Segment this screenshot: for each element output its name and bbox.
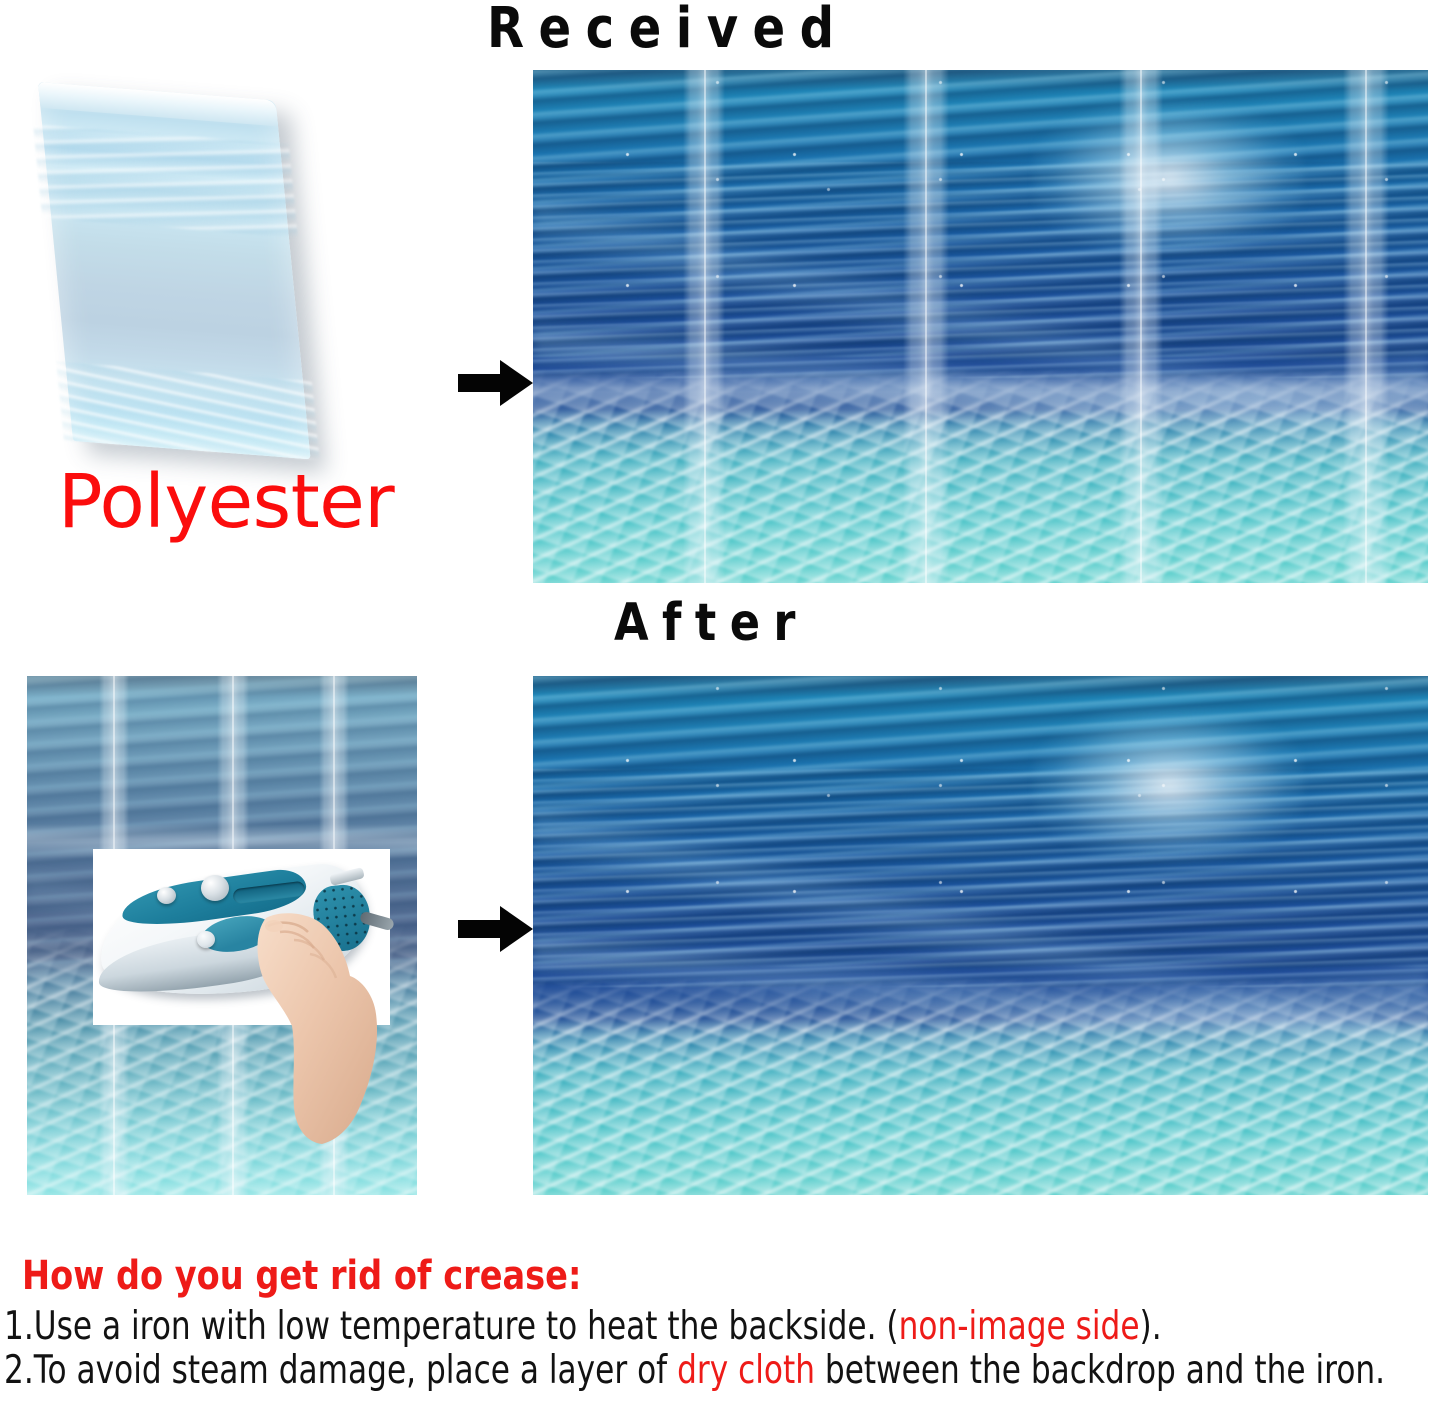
polyester-label: Polyester xyxy=(58,462,394,542)
page-title-received: Received xyxy=(487,0,849,60)
instruction-line-2-before: 2.To avoid steam damage, place a layer o… xyxy=(4,1348,677,1393)
received-backdrop-image xyxy=(533,70,1428,583)
instruction-line-2: 2.To avoid steam damage, place a layer o… xyxy=(4,1349,1385,1393)
water-bubbles xyxy=(533,80,1428,326)
instruction-line-2-after: between the backdrop and the iron. xyxy=(815,1348,1385,1393)
hand-illustration xyxy=(250,910,400,1145)
fabric-ripple-bottom xyxy=(56,361,320,460)
iron-temperature-dial xyxy=(197,931,215,948)
arrow-right-icon xyxy=(458,903,534,955)
arrow-right-icon xyxy=(458,357,534,409)
after-backdrop-image xyxy=(533,676,1428,1195)
page-title-after: After xyxy=(614,594,809,652)
water-bubbles xyxy=(533,686,1428,935)
instruction-line-2-highlight: dry cloth xyxy=(677,1348,815,1393)
instruction-line-1-highlight: non-image side xyxy=(899,1304,1140,1349)
instruction-line-1: 1.Use a iron with low temperature to hea… xyxy=(4,1305,1162,1349)
seabed-caustics xyxy=(533,368,1428,583)
fabric-curl-edge xyxy=(38,82,278,126)
instruction-line-1-after: ). xyxy=(1140,1304,1162,1349)
instructions-heading: How do you get rid of crease: xyxy=(22,1253,581,1299)
instruction-line-1-before: 1.Use a iron with low temperature to hea… xyxy=(4,1304,899,1349)
fabric-ripple-top xyxy=(33,124,299,237)
iron-steam-knob xyxy=(201,875,229,901)
iron-spray-button xyxy=(157,887,176,904)
polyester-fabric-swatch xyxy=(38,82,311,459)
seabed-caustics xyxy=(533,977,1428,1195)
